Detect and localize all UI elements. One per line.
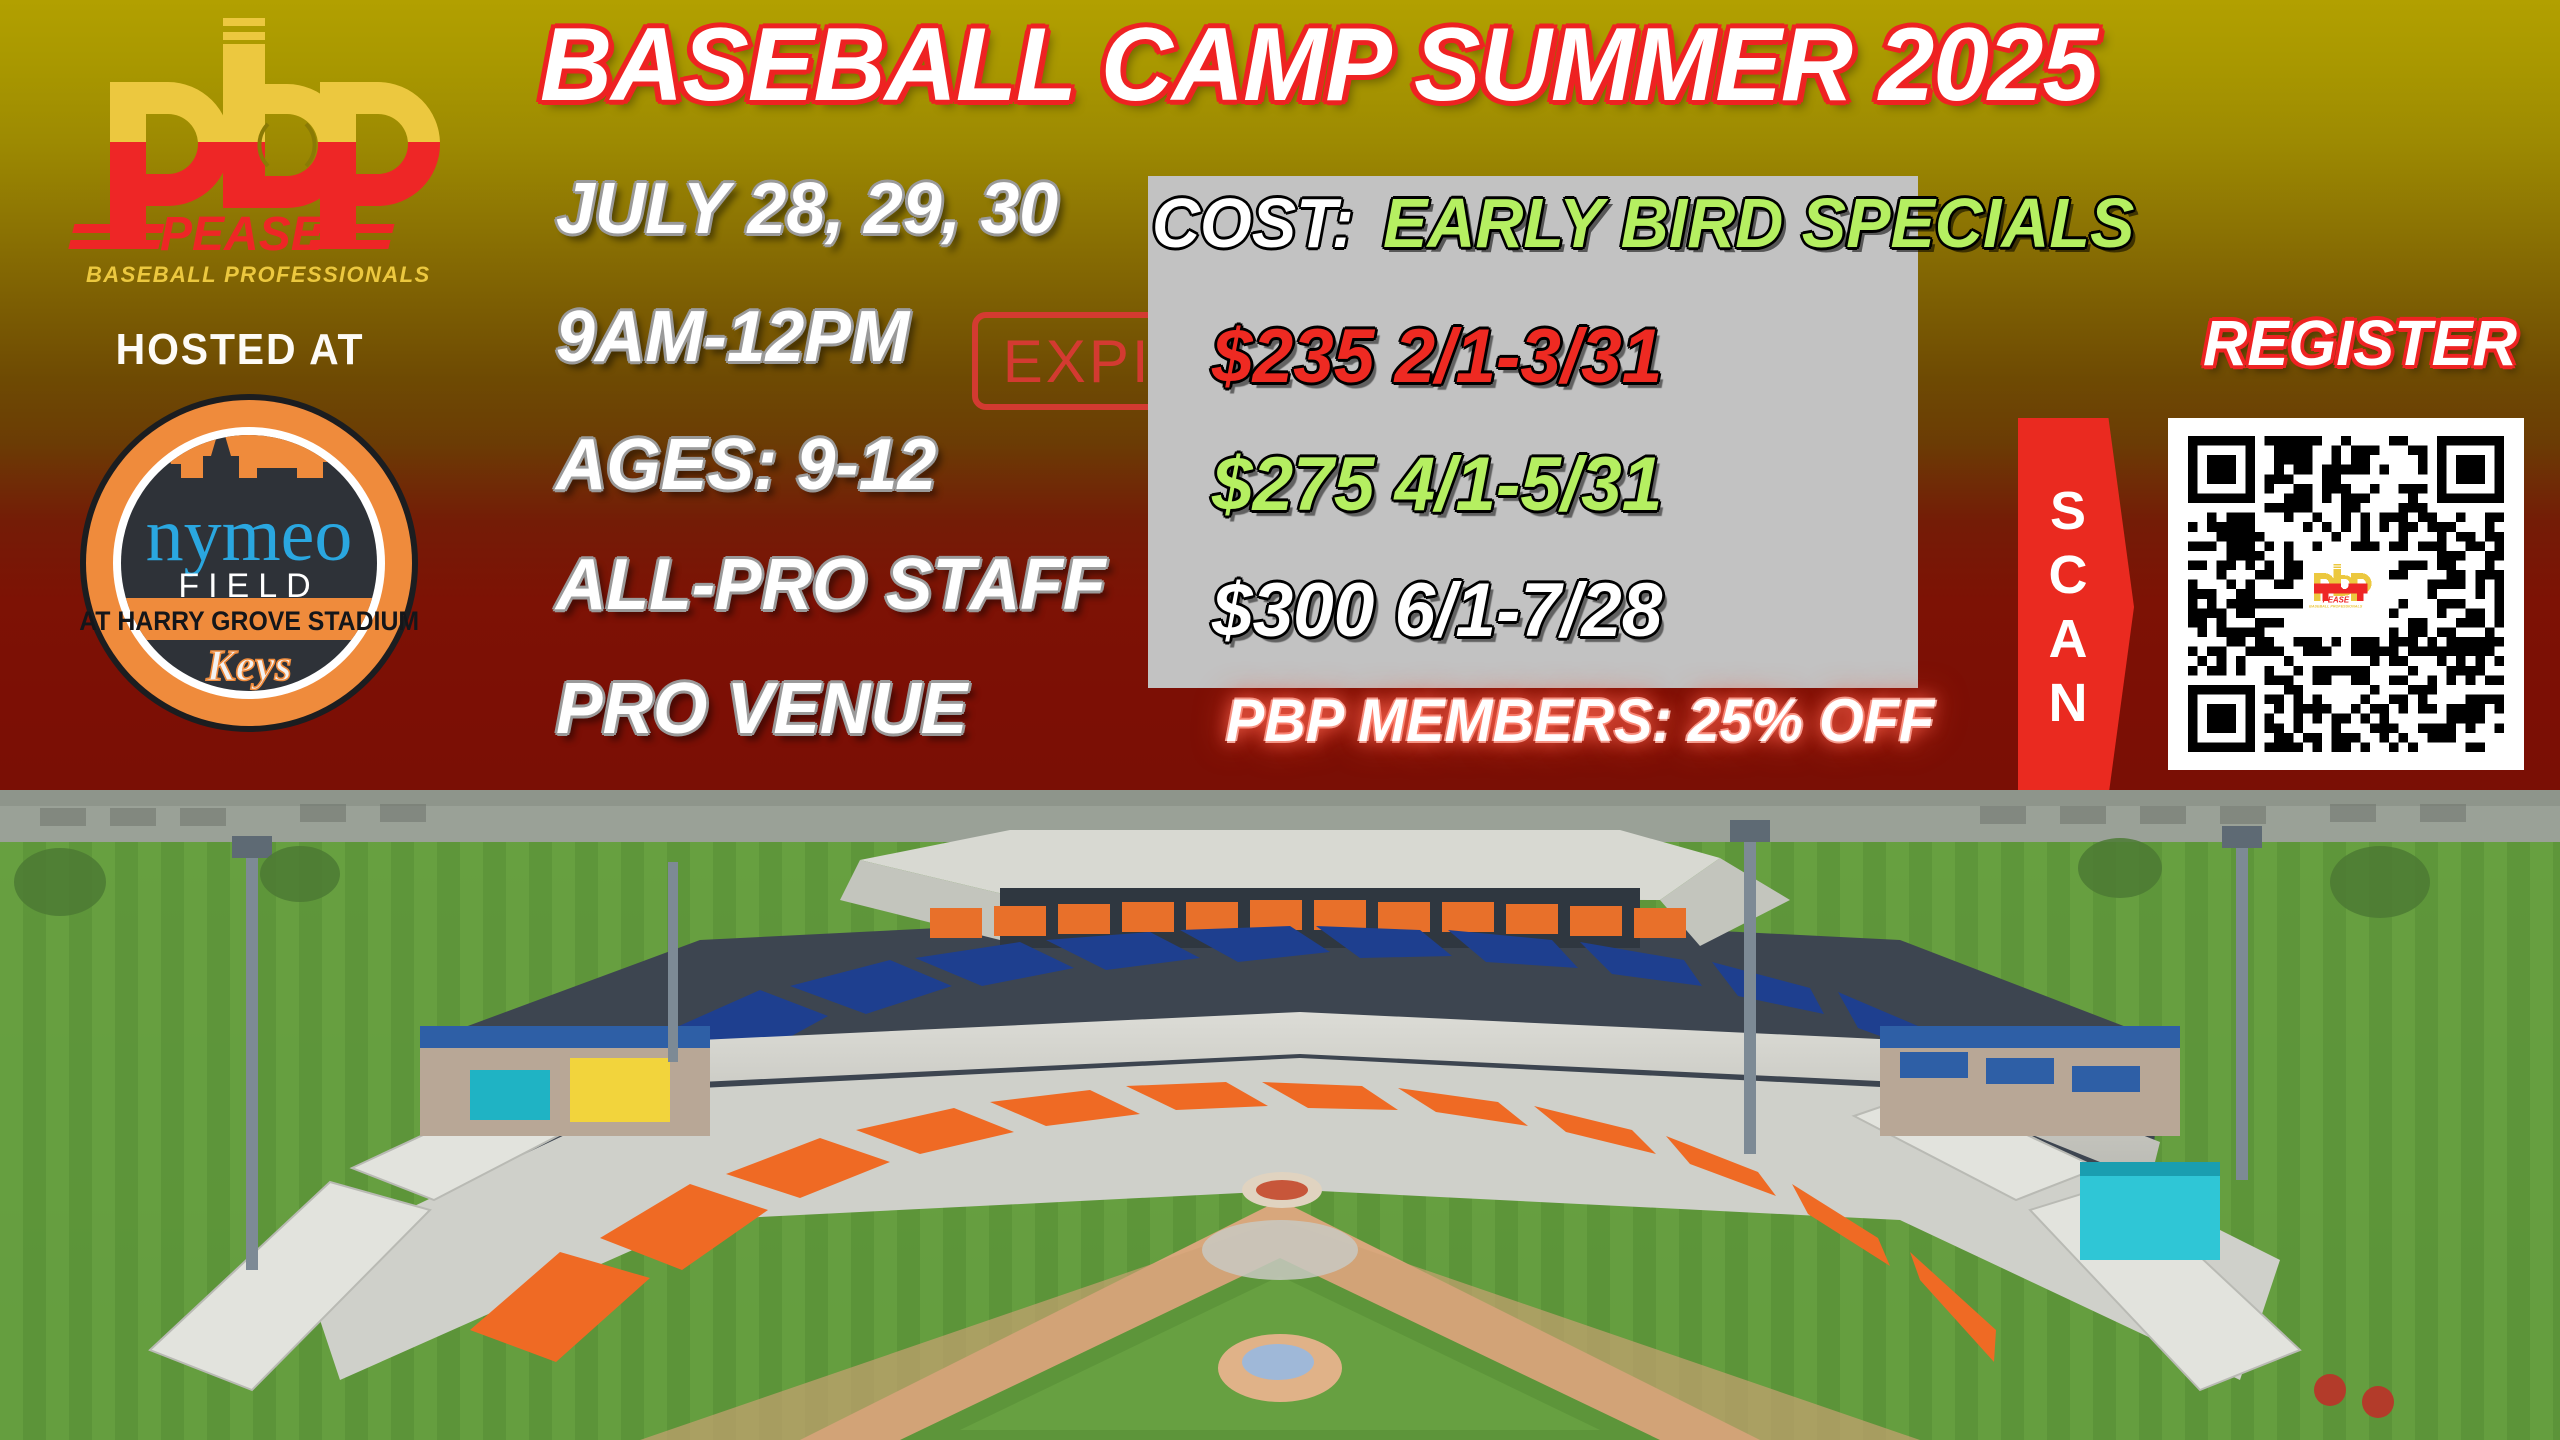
- cost-header: COST: EARLY BIRD SPECIALS: [1152, 180, 2560, 266]
- qr-code-matrix[interactable]: PEASE BASEBALL PROFESSIONALS: [2186, 436, 2506, 752]
- price-tier-1-amount: $235: [1212, 314, 1374, 399]
- scan-letter-s: S: [2050, 479, 2086, 543]
- price-tier-3-range: 6/1-7/28: [1395, 568, 1663, 653]
- detail-line-dates: JULY 28, 29, 30: [556, 172, 1058, 246]
- price-tier-1: $235 2/1-3/31: [1212, 318, 1662, 396]
- nymeo-logo-banner-text: AT HARRY GROVE STADIUM: [79, 607, 419, 636]
- scan-letter-n: N: [2049, 671, 2088, 735]
- flyer-banner: PEASE BASEBALL PROFESSIONALS HOSTED AT: [0, 0, 2560, 790]
- cost-highlight-label: EARLY BIRD SPECIALS: [1383, 188, 2134, 258]
- hosted-at-label: HOSTED AT: [17, 325, 463, 375]
- members-discount-note: PBP MEMBERS: 25% OFF: [1196, 690, 1964, 752]
- stadium-aerial-illustration: [0, 790, 2560, 1440]
- page-title: BASEBALL CAMP SUMMER 2025: [540, 12, 2268, 122]
- pbp-logo-mark: PEASE BASEBALL PROFESSIONALS: [40, 8, 480, 308]
- price-tier-2: $275 4/1-5/31: [1212, 446, 1662, 524]
- price-tier-2-amount: $275: [1212, 442, 1374, 527]
- cost-label: COST:: [1152, 188, 1354, 258]
- nymeo-logo-team-text: Keys: [205, 641, 292, 690]
- nymeo-logo-name-text: nymeo: [146, 493, 353, 577]
- camp-flyer: PEASE BASEBALL PROFESSIONALS HOSTED AT: [0, 0, 2560, 1440]
- price-tier-2-range: 4/1-5/31: [1395, 442, 1663, 527]
- detail-line-ages: AGES: 9-12: [556, 428, 936, 502]
- scan-letter-a: A: [2049, 607, 2088, 671]
- stadium-photo: Aerial view of Nymeo Field at Harry Grov…: [0, 790, 2560, 1440]
- qr-code[interactable]: PEASE BASEBALL PROFESSIONALS: [2168, 418, 2524, 770]
- nymeo-field-logo-mark: nymeo FIELD AT HARRY GROVE STADIUM Keys: [78, 392, 420, 734]
- nymeo-logo-sub-text: FIELD: [178, 567, 319, 605]
- price-tier-3: $300 6/1-7/28: [1212, 572, 1662, 650]
- pbp-logo-pease-text: PEASE: [160, 208, 325, 261]
- price-tier-3-amount: $300: [1212, 568, 1374, 653]
- svg-text:BASEBALL PROFESSIONALS: BASEBALL PROFESSIONALS: [2309, 605, 2363, 609]
- nymeo-field-logo: nymeo FIELD AT HARRY GROVE STADIUM Keys: [78, 392, 420, 734]
- pbp-logo: PEASE BASEBALL PROFESSIONALS: [40, 8, 480, 308]
- detail-line-time: 9AM-12PM: [556, 300, 909, 374]
- pbp-logo-tagline-text: BASEBALL PROFESSIONALS: [86, 262, 431, 287]
- scan-letter-c: C: [2049, 543, 2088, 607]
- svg-text:PEASE: PEASE: [2323, 596, 2350, 605]
- register-heading: REGISTER: [2168, 310, 2552, 376]
- scan-pennant: S C A N: [2018, 418, 2134, 796]
- price-tier-1-range: 2/1-3/31: [1395, 314, 1663, 399]
- detail-line-venue: PRO VENUE: [556, 672, 967, 746]
- detail-line-staff: ALL-PRO STAFF: [556, 548, 1106, 622]
